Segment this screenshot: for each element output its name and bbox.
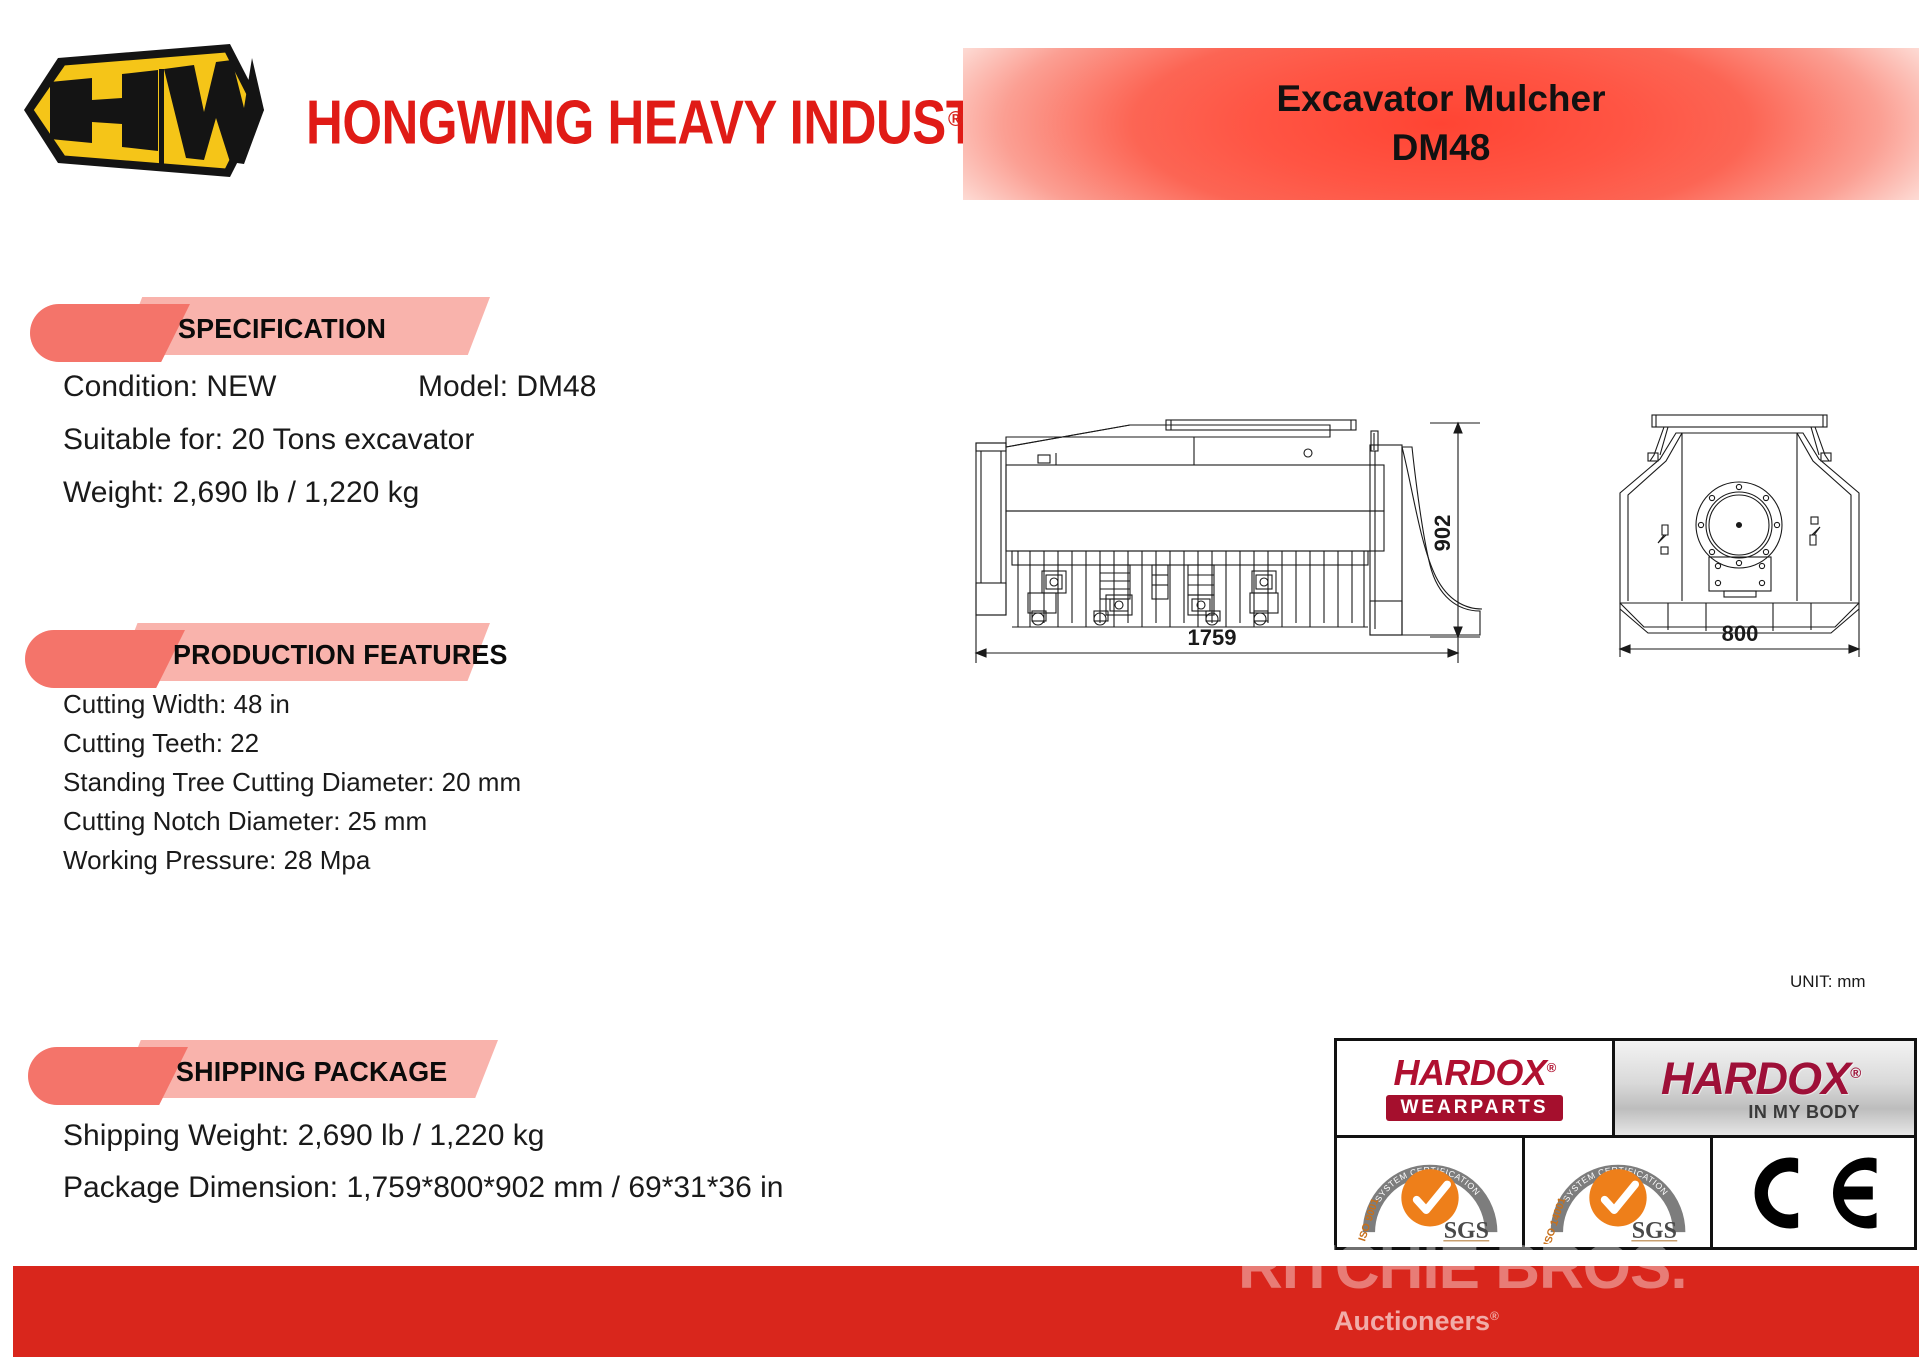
product-spec-sheet: HONGWING HEAVY INDUSTRY ® Excavator Mulc… — [0, 0, 1919, 1357]
certification-badge-grid: HARDOX® WEARPARTS HARDOX® IN MY BODY — [1334, 1038, 1917, 1250]
hw-logo-icon — [18, 38, 270, 183]
spec-row-weight: Weight: 2,690 lb / 1,220 kg — [63, 466, 474, 519]
product-type-title: Excavator Mulcher — [1276, 75, 1605, 124]
sgs-14001-standard-label: ISO 14001 — [1541, 1195, 1568, 1243]
spec-row-condition: Condition: NEW Model: DM48 — [63, 360, 474, 413]
feature-working-pressure: Working Pressure: 28 Mpa — [63, 841, 521, 880]
hardox-wearparts-badge: HARDOX® WEARPARTS — [1337, 1041, 1615, 1135]
dimension-label-800: 800 — [1722, 621, 1759, 646]
ce-mark-badge — [1713, 1138, 1914, 1247]
unit-label: UNIT: mm — [1790, 972, 1866, 992]
spec-model: Model: DM48 — [418, 360, 596, 413]
model-code-title: DM48 — [1392, 124, 1491, 173]
hardox-wearparts-wordmark: HARDOX — [1393, 1052, 1546, 1093]
sgs-14001-brand-label: SGS — [1631, 1218, 1676, 1244]
spec-row-suitable-for: Suitable for: 20 Tons excavator — [63, 413, 474, 466]
technical-drawing-area: 902 1759 800 — [960, 405, 1919, 665]
hardox-body-reg: ® — [1850, 1065, 1860, 1082]
shipping-weight: Shipping Weight: 2,690 lb / 1,220 kg — [63, 1110, 783, 1162]
side-elevation-drawing — [976, 420, 1482, 635]
sgs-iso-14001-icon: SYSTEM CERTIFICATION ISO 14001 SGS — [1532, 1142, 1704, 1244]
certification-row-bottom: SYSTEM CERTIFICATION ISO 9001 SGS — [1337, 1138, 1914, 1247]
section-title-specification: SPECIFICATION — [178, 313, 386, 345]
spec-weight: Weight: 2,690 lb / 1,220 kg — [63, 476, 419, 509]
hardox-in-my-body-badge: HARDOX® IN MY BODY — [1615, 1041, 1914, 1135]
certification-row-top: HARDOX® WEARPARTS HARDOX® IN MY BODY — [1337, 1041, 1914, 1138]
technical-drawing-svg: 902 1759 800 — [960, 405, 1919, 665]
sgs-9001-standard-label: ISO 9001 — [1356, 1196, 1381, 1242]
section-banner-specification: SPECIFICATION — [30, 297, 490, 355]
header: HONGWING HEAVY INDUSTRY ® — [18, 38, 958, 183]
brand-registered-mark: ® — [948, 108, 963, 132]
sgs-iso-14001-badge: SYSTEM CERTIFICATION ISO 14001 SGS — [1525, 1138, 1713, 1247]
feature-cutting-width: Cutting Width: 48 in — [63, 685, 521, 724]
dimension-label-902: 902 — [1430, 515, 1455, 552]
ce-mark-icon — [1744, 1146, 1884, 1240]
feature-cutting-teeth: Cutting Teeth: 22 — [63, 724, 521, 763]
package-dimension: Package Dimension: 1,759*800*902 mm / 69… — [63, 1162, 783, 1214]
section-banner-production-features: PRODUCTION FEATURES — [25, 623, 485, 681]
sgs-9001-brand-label: SGS — [1443, 1218, 1488, 1244]
section-title-shipping-package: SHIPPING PACKAGE — [176, 1056, 447, 1088]
section-title-production-features: PRODUCTION FEATURES — [173, 639, 508, 671]
hardox-body-wordmark: HARDOX — [1661, 1053, 1850, 1104]
specification-list: Condition: NEW Model: DM48 Suitable for:… — [63, 360, 474, 519]
dimension-label-1759: 1759 — [1188, 625, 1237, 650]
title-banner: Excavator Mulcher DM48 — [963, 48, 1919, 200]
feature-standing-tree-diameter: Standing Tree Cutting Diameter: 20 mm — [63, 763, 521, 802]
shipping-package-list: Shipping Weight: 2,690 lb / 1,220 kg Pac… — [63, 1110, 783, 1214]
sgs-iso-9001-badge: SYSTEM CERTIFICATION ISO 9001 SGS — [1337, 1138, 1525, 1247]
hardox-wearparts-bar: WEARPARTS — [1386, 1095, 1562, 1121]
section-banner-shipping-package: SHIPPING PACKAGE — [28, 1040, 493, 1098]
feature-cutting-notch-diameter: Cutting Notch Diameter: 25 mm — [63, 802, 521, 841]
brand-name: HONGWING HEAVY INDUSTRY — [306, 86, 1044, 158]
spec-suitable-for: Suitable for: 20 Tons excavator — [63, 423, 474, 456]
production-features-list: Cutting Width: 48 in Cutting Teeth: 22 S… — [63, 685, 521, 880]
hardox-wearparts-reg: ® — [1546, 1060, 1555, 1075]
sgs-iso-9001-icon: SYSTEM CERTIFICATION ISO 9001 SGS — [1344, 1142, 1516, 1244]
hardox-body-subtext: IN MY BODY — [1661, 1103, 1860, 1121]
spec-condition: Condition: NEW — [63, 370, 276, 403]
bottom-red-bar — [13, 1266, 1919, 1357]
